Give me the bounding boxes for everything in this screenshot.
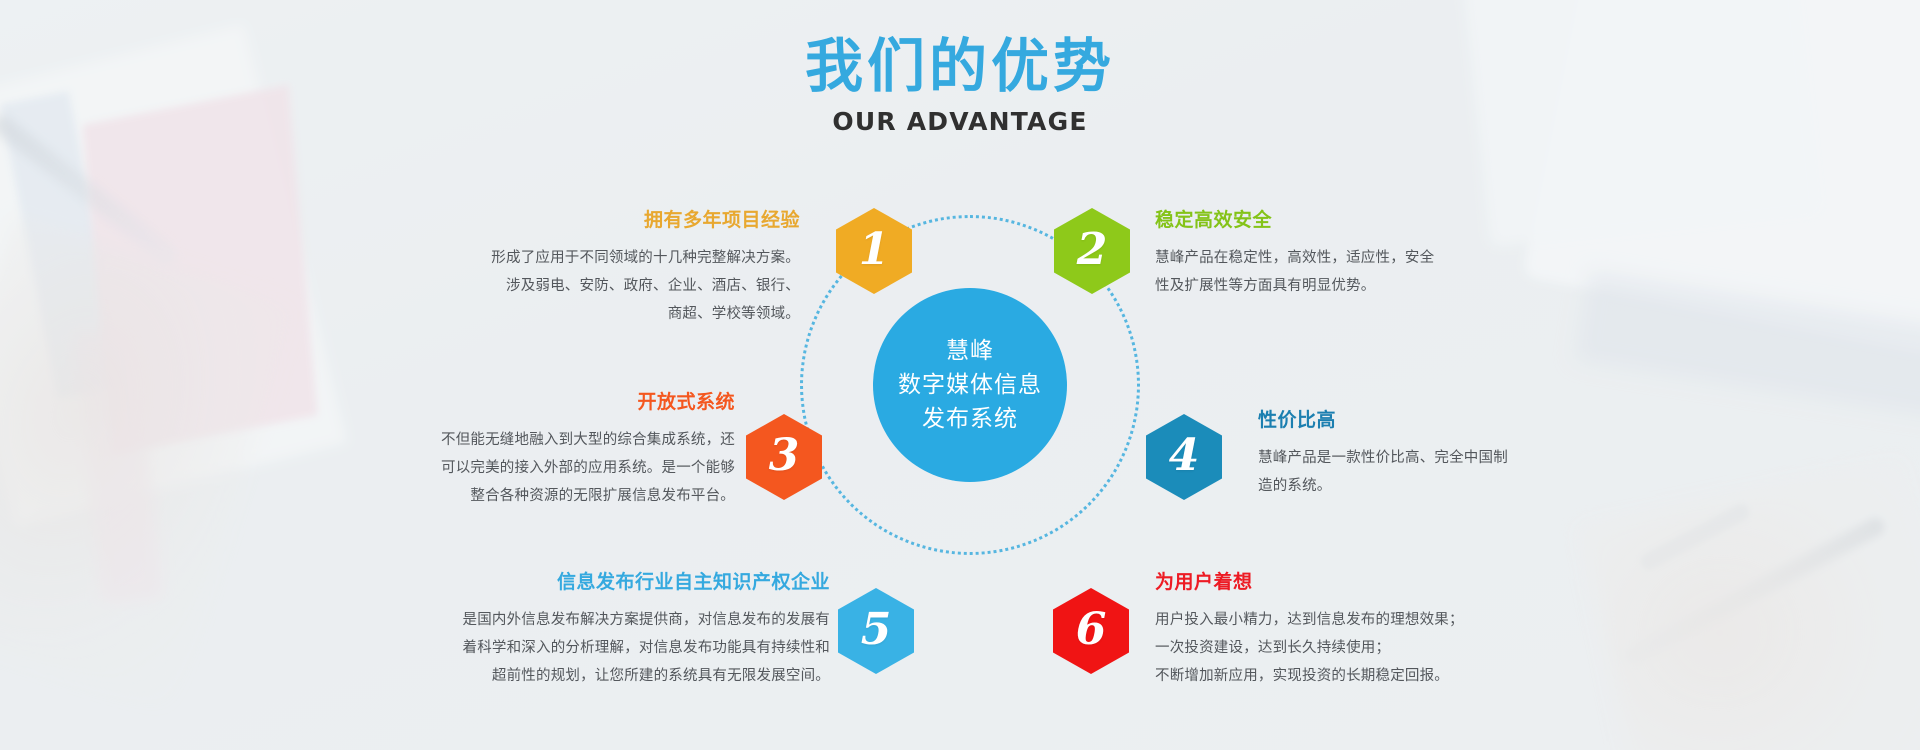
advantage-body-line: 商超、学校等领域。 [380, 300, 800, 328]
advantage-body-line: 是国内外信息发布解决方案提供商，对信息发布的发展有 [330, 606, 830, 634]
center-line-2: 数字媒体信息 [898, 368, 1042, 402]
center-line-3: 发布系统 [922, 402, 1018, 436]
advantage-body-line: 造的系统。 [1258, 472, 1658, 500]
advantage-body-1: 形成了应用于不同领域的十几种完整解决方案。涉及弱电、安防、政府、企业、酒店、银行… [380, 244, 800, 329]
advantage-body-line: 涉及弱电、安防、政府、企业、酒店、银行、 [380, 272, 800, 300]
hexagon-number-2: 2 [1077, 228, 1108, 272]
hexagon-number-5: 5 [861, 608, 892, 652]
advantage-body-4: 慧峰产品是一款性价比高、完全中国制造的系统。 [1258, 444, 1658, 501]
advantage-body-6: 用户投入最小精力，达到信息发布的理想效果；一次投资建设，达到长久持续使用；不断增… [1155, 606, 1585, 691]
advantage-body-line: 不但能无缝地融入到大型的综合集成系统，还 [320, 426, 735, 454]
advantage-block-2: 稳定高效安全 慧峰产品在稳定性，高效性，适应性，安全性及扩展性等方面具有明显优势… [1155, 208, 1585, 300]
page-title-en: OUR ADVANTAGE [0, 107, 1920, 136]
advantage-title-4: 性价比高 [1258, 408, 1658, 433]
advantage-title-6: 为用户着想 [1155, 570, 1585, 595]
center-line-1: 慧峰 [946, 334, 994, 368]
advantage-title-1: 拥有多年项目经验 [380, 208, 800, 233]
advantage-body-line: 整合各种资源的无限扩展信息发布平台。 [320, 482, 735, 510]
advantage-title-2: 稳定高效安全 [1155, 208, 1585, 233]
advantage-body-line: 慧峰产品是一款性价比高、完全中国制 [1258, 444, 1658, 472]
advantage-block-4: 性价比高 慧峰产品是一款性价比高、完全中国制造的系统。 [1258, 408, 1658, 500]
advantage-body-line: 一次投资建设，达到长久持续使用； [1155, 634, 1585, 662]
advantage-body-line: 不断增加新应用，实现投资的长期稳定回报。 [1155, 662, 1585, 690]
advantage-body-line: 慧峰产品在稳定性，高效性，适应性，安全 [1155, 244, 1585, 272]
advantage-body-line: 用户投入最小精力，达到信息发布的理想效果； [1155, 606, 1585, 634]
advantage-block-1: 拥有多年项目经验 形成了应用于不同领域的十几种完整解决方案。涉及弱电、安防、政府… [380, 208, 800, 328]
center-circle: 慧峰 数字媒体信息 发布系统 [873, 288, 1067, 482]
advantage-body-2: 慧峰产品在稳定性，高效性，适应性，安全性及扩展性等方面具有明显优势。 [1155, 244, 1585, 301]
advantage-block-3: 开放式系统 不但能无缝地融入到大型的综合集成系统，还可以完美的接入外部的应用系统… [320, 390, 735, 510]
hexagon-number-3: 3 [769, 434, 800, 478]
advantage-block-6: 为用户着想 用户投入最小精力，达到信息发布的理想效果；一次投资建设，达到长久持续… [1155, 570, 1585, 690]
advantage-title-5: 信息发布行业自主知识产权企业 [330, 570, 830, 595]
hexagon-number-4: 4 [1169, 434, 1200, 478]
advantage-title-3: 开放式系统 [320, 390, 735, 415]
hexagon-number-1: 1 [859, 228, 890, 272]
advantage-body-line: 形成了应用于不同领域的十几种完整解决方案。 [380, 244, 800, 272]
advantage-body-line: 性及扩展性等方面具有明显优势。 [1155, 272, 1585, 300]
advantage-body-5: 是国内外信息发布解决方案提供商，对信息发布的发展有着科学和深入的分析理解，对信息… [330, 606, 830, 691]
advantage-body-line: 着科学和深入的分析理解，对信息发布功能具有持续性和 [330, 634, 830, 662]
advantage-body-line: 超前性的规划，让您所建的系统具有无限发展空间。 [330, 662, 830, 690]
advantage-infographic: 我们的优势 OUR ADVANTAGE 慧峰 数字媒体信息 发布系统 1 2 3… [0, 0, 1920, 750]
page-title-cn: 我们的优势 [0, 34, 1920, 99]
page-header: 我们的优势 OUR ADVANTAGE [0, 34, 1920, 136]
advantage-body-3: 不但能无缝地融入到大型的综合集成系统，还可以完美的接入外部的应用系统。是一个能够… [320, 426, 735, 511]
hexagon-number-6: 6 [1076, 608, 1107, 652]
advantage-body-line: 可以完美的接入外部的应用系统。是一个能够 [320, 454, 735, 482]
advantage-block-5: 信息发布行业自主知识产权企业 是国内外信息发布解决方案提供商，对信息发布的发展有… [330, 570, 830, 690]
